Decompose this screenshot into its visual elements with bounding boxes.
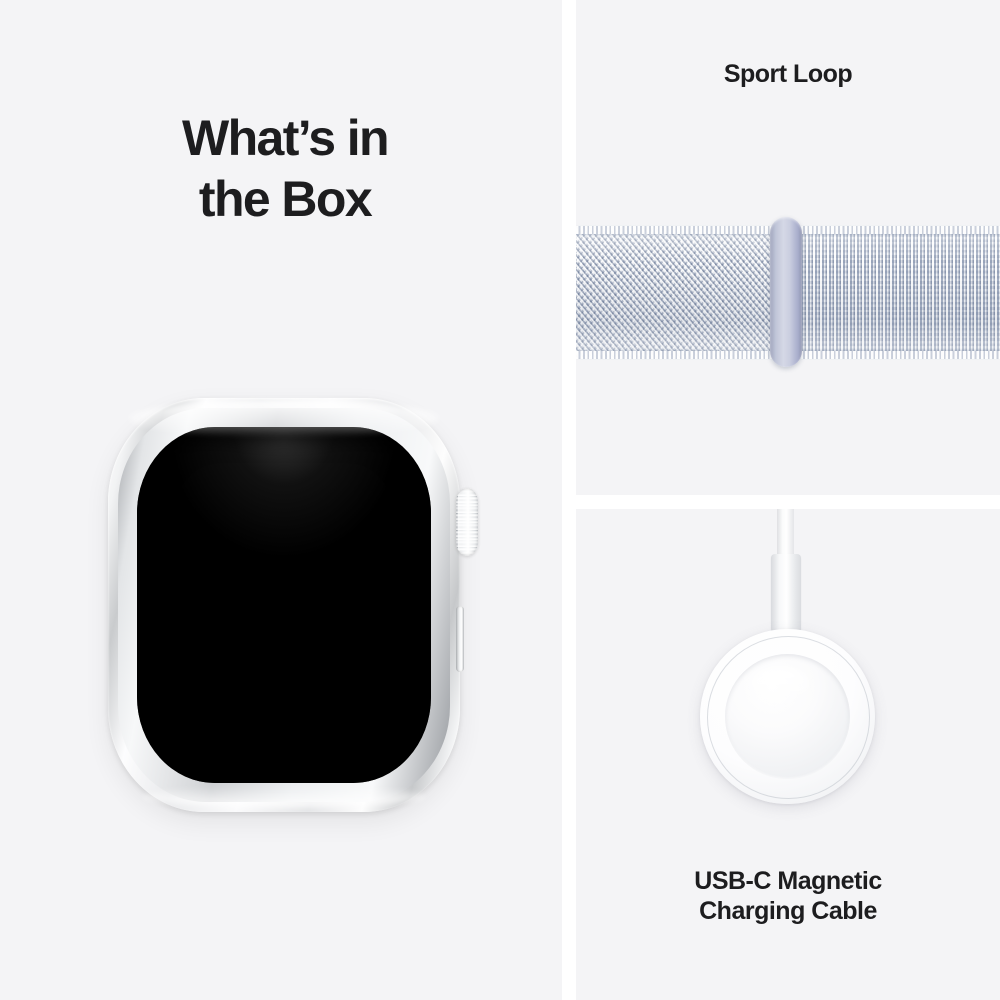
digital-crown-icon — [456, 488, 478, 556]
apple-watch-image — [108, 398, 460, 812]
charging-puck-highlight — [750, 667, 810, 705]
sport-loop-label: Sport Loop — [576, 60, 1000, 90]
sport-loop-band-image — [576, 226, 1000, 359]
charging-cable-label: USB-C Magnetic Charging Cable — [576, 867, 1000, 926]
page-title: What’s in the Box — [60, 108, 510, 230]
watch-bezel — [118, 408, 450, 802]
product-gallery: What’s in the Box Sport Loop — [0, 0, 1000, 1000]
watch-screen — [137, 427, 431, 783]
band-weave-right — [778, 226, 1000, 359]
panel-charging-cable: USB-C Magnetic Charging Cable — [576, 509, 1000, 1000]
band-keeper-loop — [770, 217, 802, 367]
panel-watch: What’s in the Box — [0, 0, 562, 1000]
magnetic-charging-puck — [700, 629, 875, 804]
panel-sport-loop: Sport Loop — [576, 0, 1000, 495]
cable-strain-relief — [771, 554, 801, 634]
digital-crown-highlight — [458, 492, 465, 552]
watch-case — [108, 398, 460, 812]
charging-puck-face — [725, 654, 850, 779]
cable-cord — [777, 509, 794, 557]
charging-cable-image — [576, 509, 1000, 839]
side-button-icon — [456, 606, 464, 672]
band-weave-left — [576, 226, 778, 359]
